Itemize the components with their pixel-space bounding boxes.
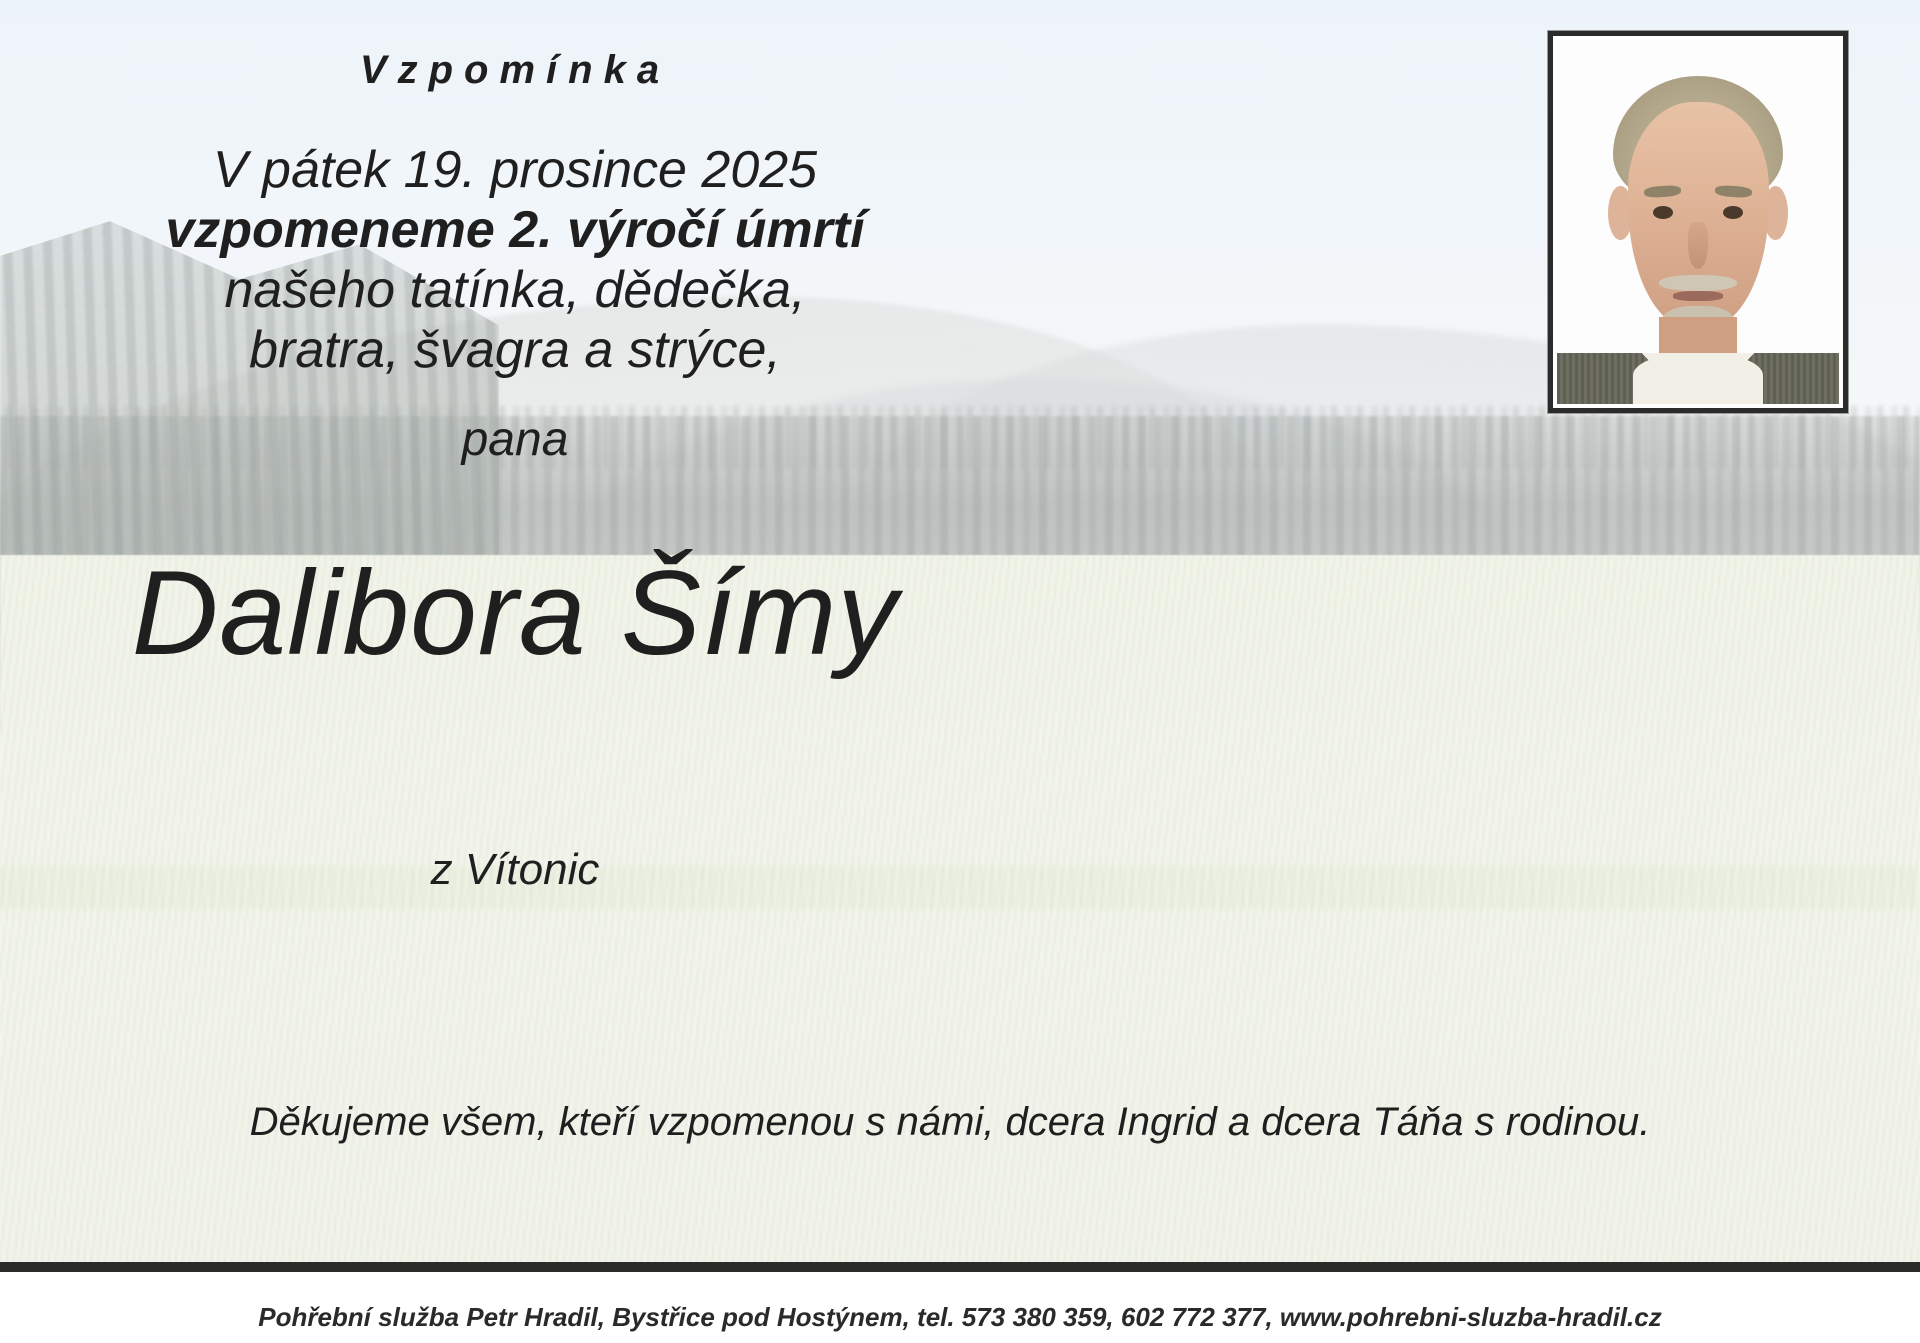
memorial-card: Vzpomínka V pátek 19. prosince 2025 vzpo… [0,0,1920,1343]
memorial-lines: V pátek 19. prosince 2025 vzpomeneme 2. … [0,140,1030,380]
memorial-line-1: V pátek 19. prosince 2025 [0,140,1030,200]
deceased-name: Dalibora Šímy [0,550,1030,676]
honorific-text: pana [0,412,1030,467]
funeral-service-info: Pohřební služba Petr Hradil, Bystřice po… [258,1282,1662,1333]
memorial-line-3: našeho tatínka, dědečka, [0,260,1030,320]
thanks-text: Děkujeme všem, kteří vzpomenou s námi, d… [0,1100,1780,1145]
memorial-text-block: Vzpomínka V pátek 19. prosince 2025 vzpo… [0,0,1920,1262]
memorial-line-4: bratra, švagra a strýce, [0,320,1030,380]
footer-divider [0,1262,1920,1272]
origin-text: z Vítonic [0,845,1030,895]
footer-bar: Pohřební služba Petr Hradil, Bystřice po… [0,1272,1920,1343]
memorial-title: Vzpomínka [0,48,1030,93]
memorial-line-2: vzpomeneme 2. výročí úmrtí [0,200,1030,260]
